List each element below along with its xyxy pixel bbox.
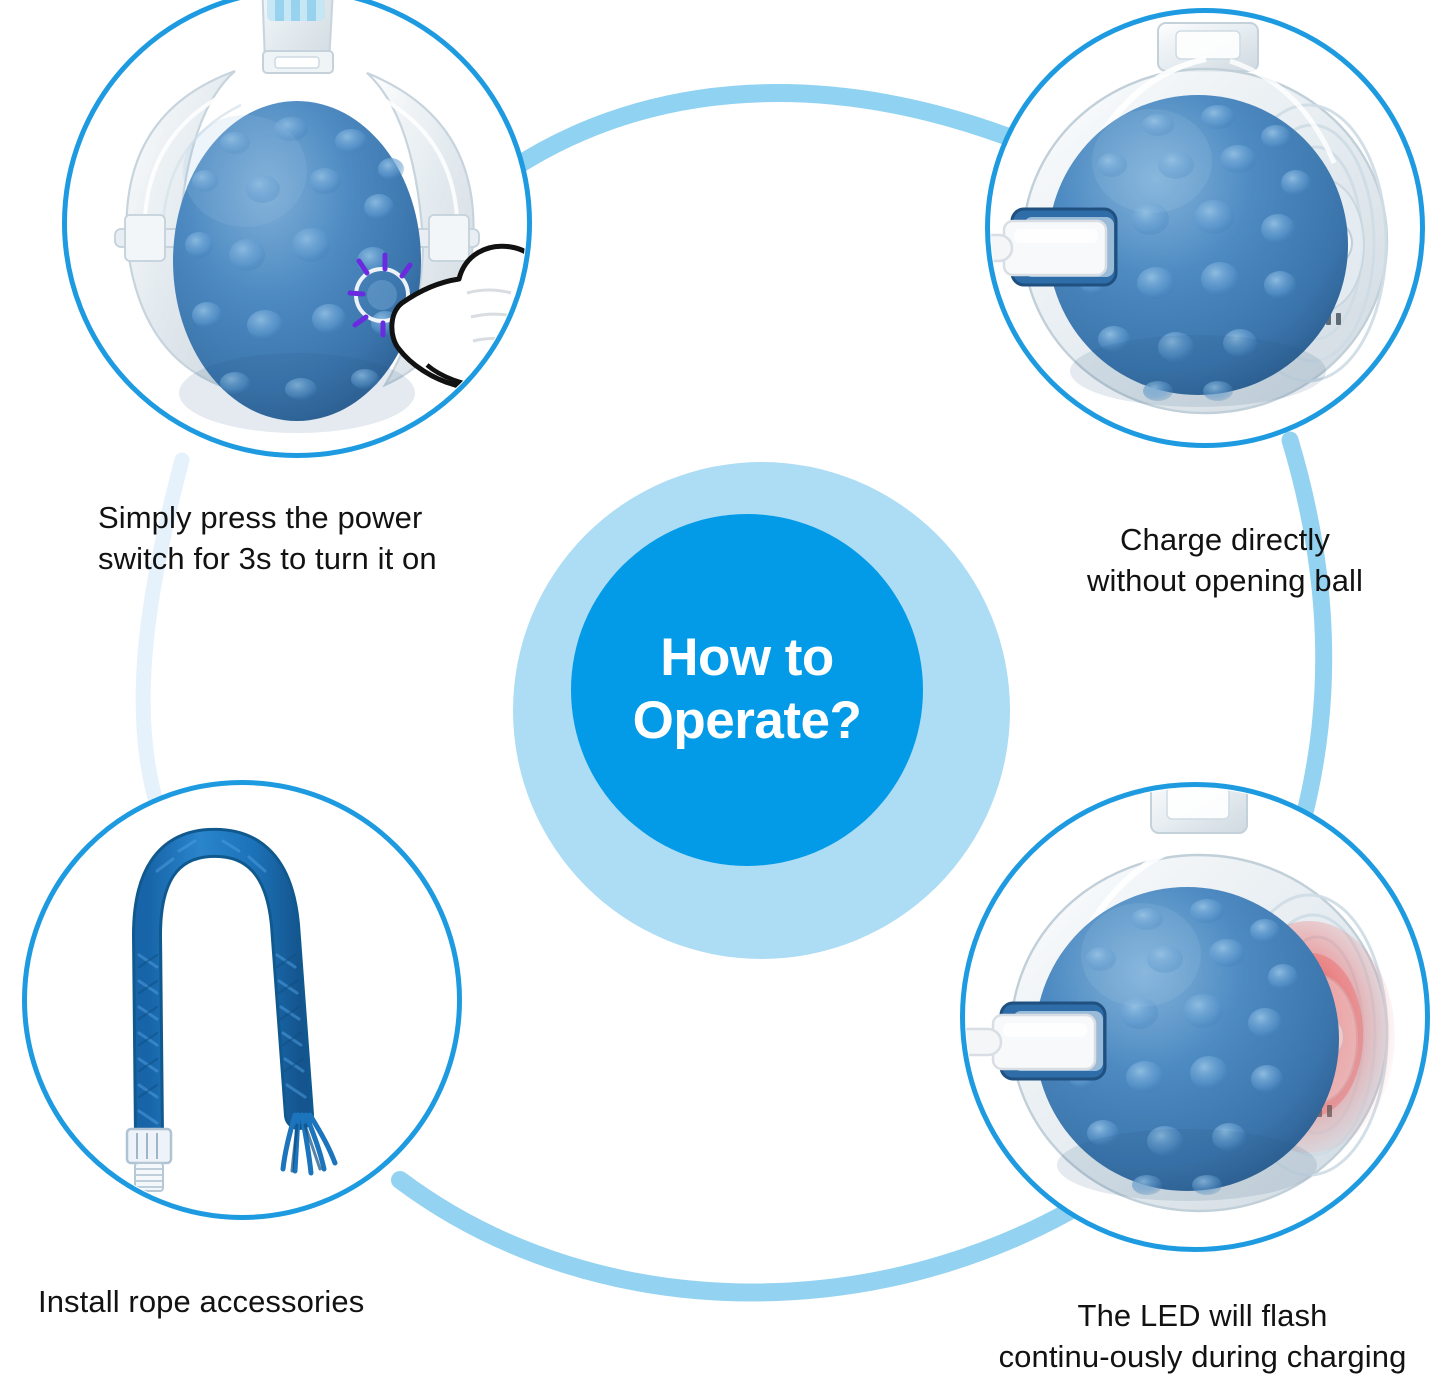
caption-rope: Install rope accessories	[38, 1282, 488, 1323]
step-image-power-on	[62, 0, 532, 458]
step-image-charge	[985, 8, 1425, 448]
badge-title-line1: How to	[660, 627, 834, 690]
led-flash-illustration	[965, 787, 1425, 1247]
rope-illustration	[27, 785, 457, 1215]
infographic-canvas: Simply press the power switch for 3s to …	[0, 0, 1445, 1376]
caption-charge: Charge directly without opening ball	[1020, 520, 1430, 602]
arc-bottom-connector	[400, 1180, 1120, 1293]
power-on-illustration	[67, 0, 527, 453]
centre-badge: How to Operate?	[513, 462, 1010, 959]
usb-cable	[990, 221, 1106, 275]
badge-title-line2: Operate?	[633, 690, 862, 753]
charge-illustration	[990, 13, 1420, 443]
badge-inner-circle: How to Operate?	[571, 514, 923, 866]
step-image-rope	[22, 780, 462, 1220]
step-image-led-flash	[960, 782, 1430, 1252]
caption-power-on: Simply press the power switch for 3s to …	[98, 498, 528, 580]
caption-led-flash: The LED will flash continu-ously during …	[960, 1296, 1445, 1376]
